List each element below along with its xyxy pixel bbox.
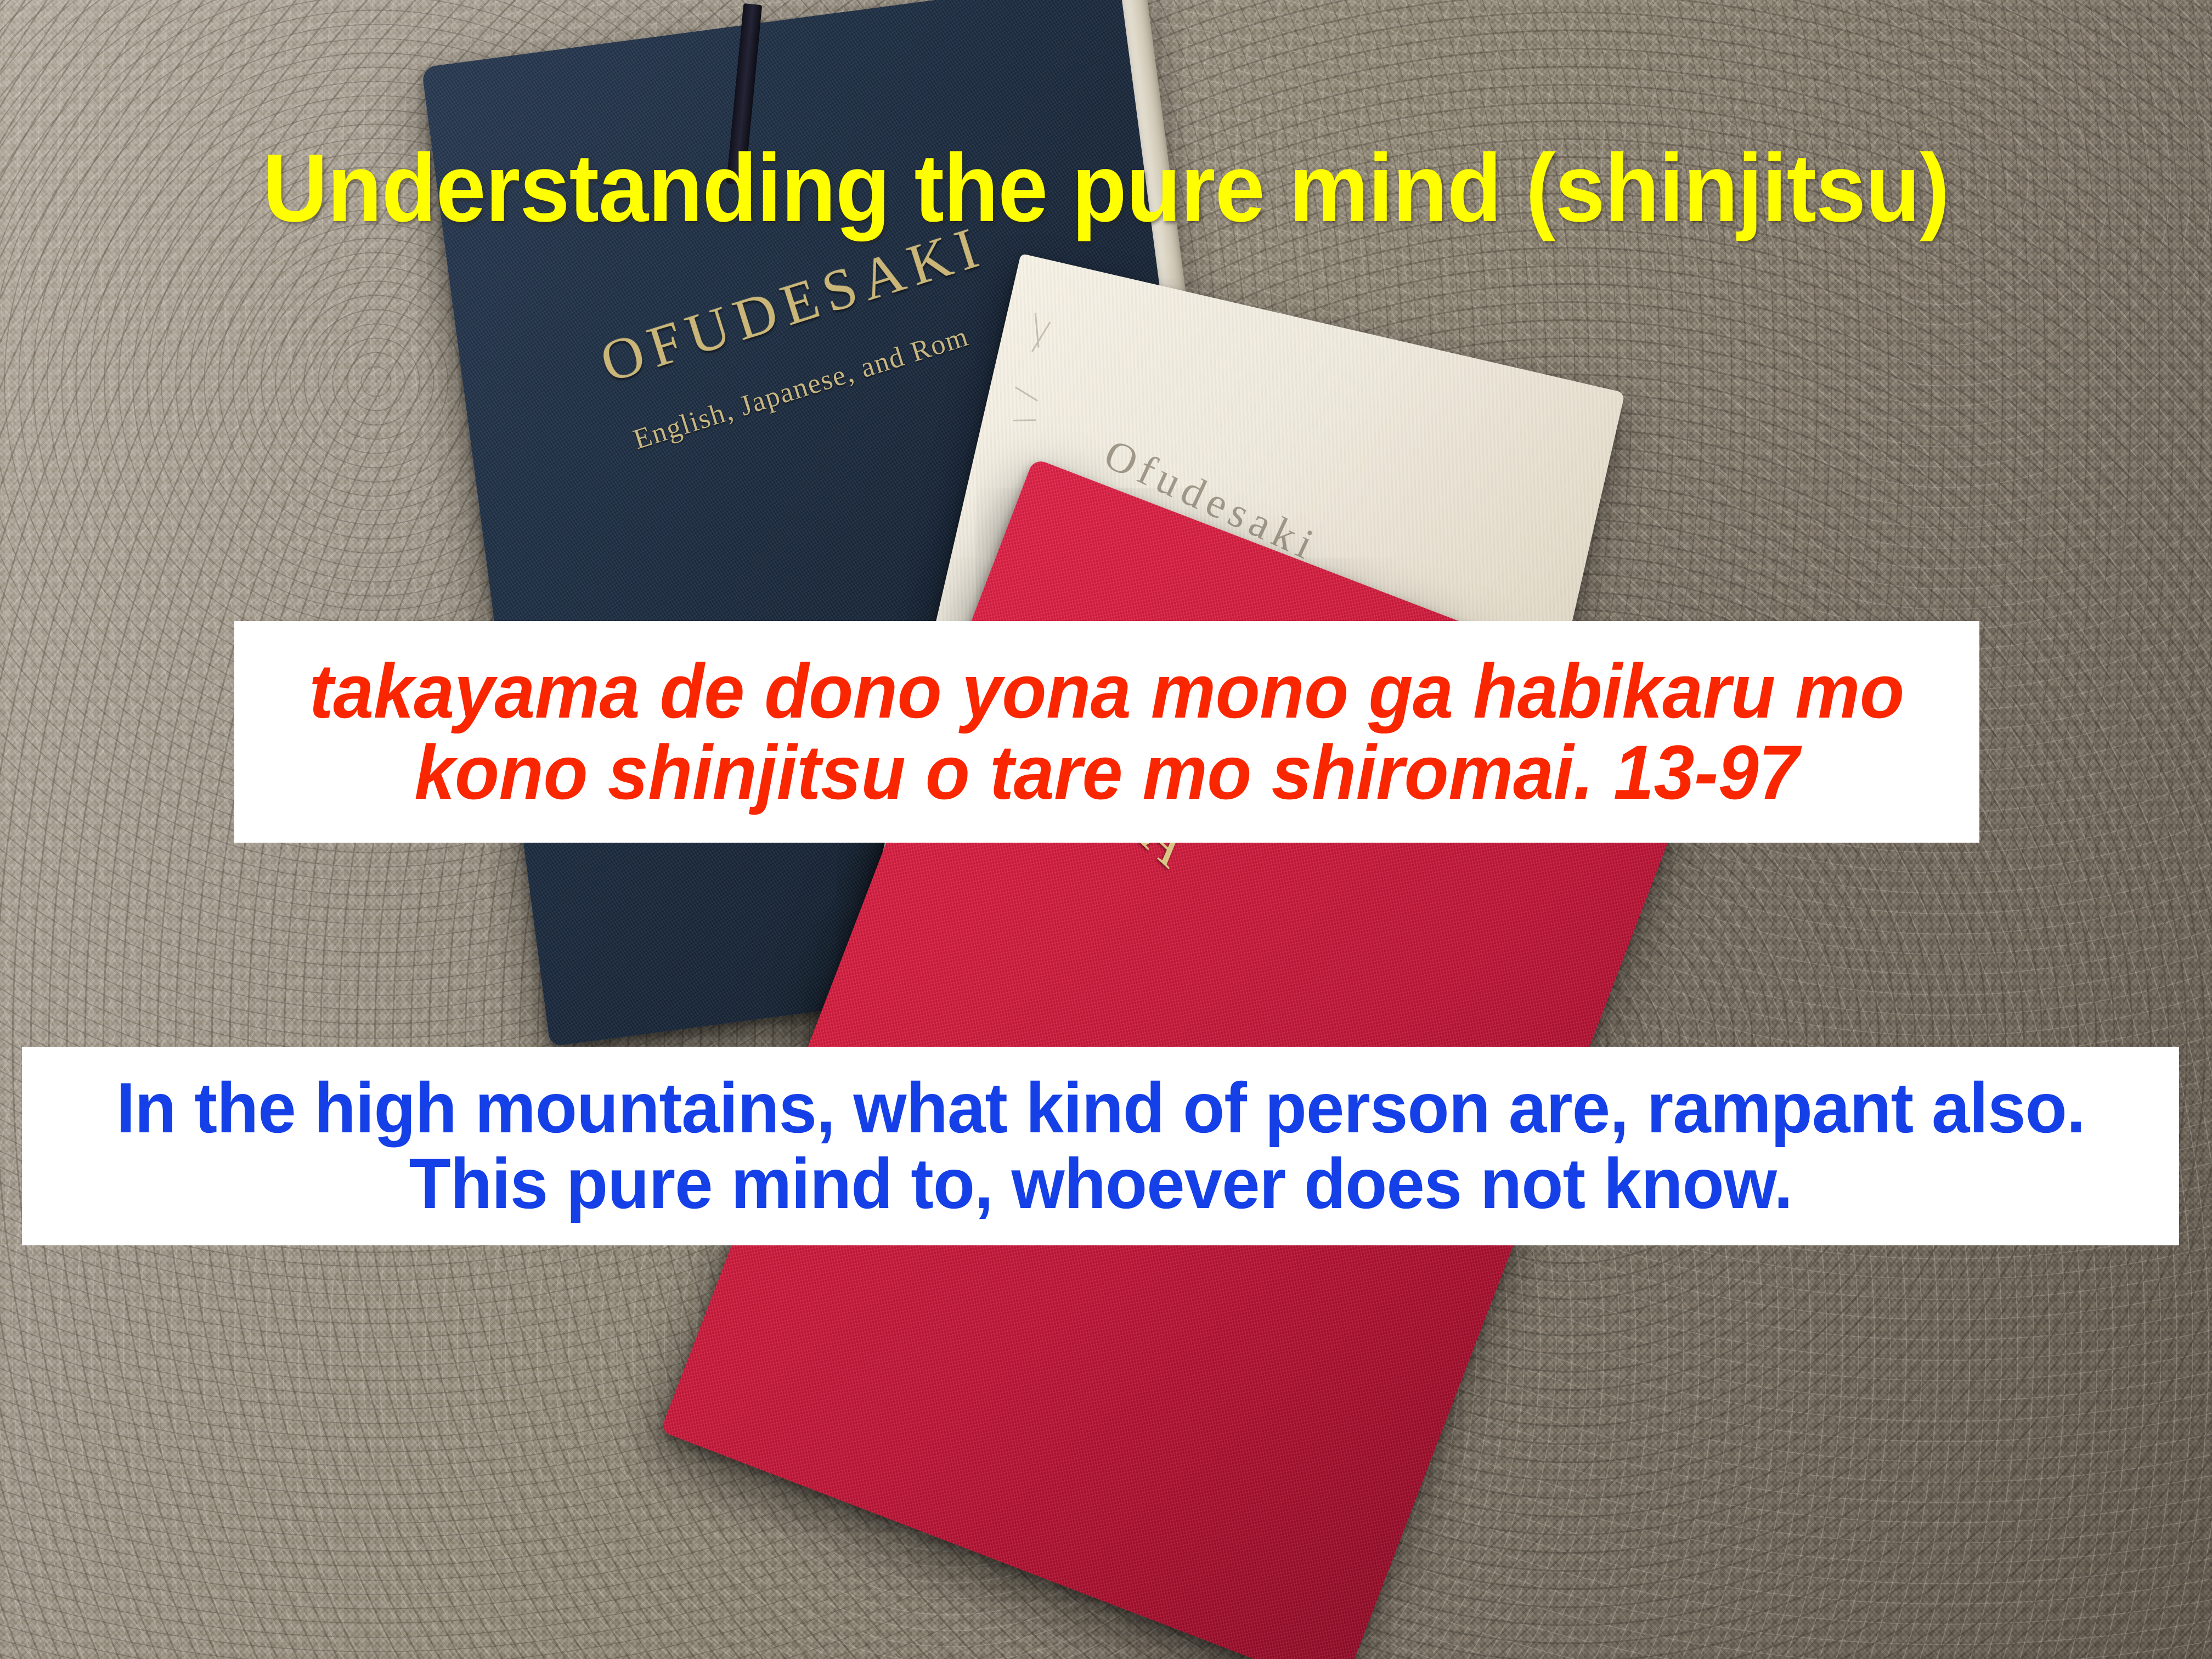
english-translation-box: In the high mountains, what kind of pers… bbox=[22, 1047, 2179, 1245]
slide-title: Understanding the pure mind (shinjitsu) bbox=[77, 140, 2135, 236]
english-translation-line-2: This pure mind to, whoever does not know… bbox=[409, 1146, 1792, 1222]
english-translation-line-1: In the high mountains, what kind of pers… bbox=[116, 1070, 2085, 1146]
romaji-quote-line-2: kono shinjitsu o tare mo shiromai. 13-97 bbox=[415, 732, 1799, 813]
slide-canvas: OFUDESAKI English, Japanese, and Rom Ofu… bbox=[0, 0, 2212, 1659]
romaji-quote-line-1: takayama de dono yona mono ga habikaru m… bbox=[309, 651, 1904, 732]
romaji-quote-box: takayama de dono yona mono ga habikaru m… bbox=[234, 621, 1979, 843]
